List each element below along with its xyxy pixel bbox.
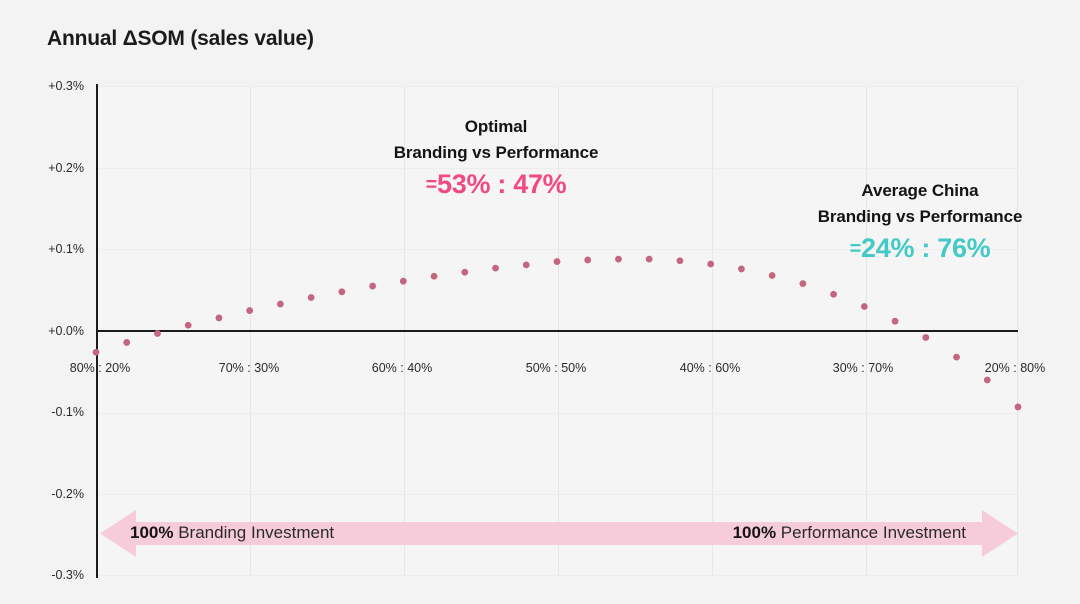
annotation-china-value: =24% : 76% — [818, 230, 1023, 267]
performance-investment-label: 100% Performance Investment — [733, 523, 966, 543]
y-tick-label: -0.2% — [22, 487, 84, 501]
branding-investment-label: 100% Branding Investment — [130, 523, 334, 543]
x-tick-label: 30% : 70% — [833, 361, 893, 375]
performance-investment-percent: 100% — [733, 523, 776, 542]
annotation-china-subtitle: Branding vs Performance — [818, 204, 1023, 230]
x-tick-label: 50% : 50% — [526, 361, 586, 375]
annotation-optimal: Optimal Branding vs Performance =53% : 4… — [394, 114, 599, 203]
x-tick-label: 40% : 60% — [680, 361, 740, 375]
x-tick-label: 20% : 80% — [985, 361, 1045, 375]
y-tick-label: +0.0% — [22, 324, 84, 338]
chart-root: Annual ΔSOM (sales value) +0.3% +0.2% +0… — [0, 0, 1080, 604]
y-tick-label: -0.3% — [22, 568, 84, 582]
annotation-average-china: Average China Branding vs Performance =2… — [818, 178, 1023, 267]
annotation-optimal-ratio: 53% : 47% — [437, 169, 566, 199]
branding-investment-percent: 100% — [130, 523, 173, 542]
x-tick-label: 70% : 30% — [219, 361, 279, 375]
x-tick-label: 80% : 20% — [70, 361, 130, 375]
horizontal-gridline — [96, 494, 1018, 495]
investment-arrow-bar: 100% Branding Investment 100% Performanc… — [100, 509, 1018, 558]
annotation-china-ratio: 24% : 76% — [861, 233, 990, 263]
y-axis-labels: +0.3% +0.2% +0.1% +0.0% -0.1% -0.2% -0.3… — [22, 0, 84, 604]
annotation-optimal-subtitle: Branding vs Performance — [394, 140, 599, 166]
horizontal-gridline — [96, 86, 1018, 87]
annotation-optimal-equals: = — [426, 174, 437, 196]
performance-investment-text: Performance Investment — [776, 523, 966, 542]
annotation-optimal-value: =53% : 47% — [394, 166, 599, 203]
horizontal-gridline — [96, 413, 1018, 414]
x-tick-label: 60% : 40% — [372, 361, 432, 375]
branding-investment-text: Branding Investment — [173, 523, 334, 542]
y-tick-label: +0.1% — [22, 242, 84, 256]
y-tick-label: +0.3% — [22, 79, 84, 93]
zero-baseline — [96, 330, 1018, 332]
annotation-optimal-title: Optimal — [394, 114, 599, 140]
horizontal-gridline — [96, 575, 1018, 576]
y-tick-label: +0.2% — [22, 161, 84, 175]
annotation-china-equals: = — [850, 238, 861, 260]
y-tick-label: -0.1% — [22, 405, 84, 419]
annotation-china-title: Average China — [818, 178, 1023, 204]
chart-title: Annual ΔSOM (sales value) — [47, 27, 314, 51]
